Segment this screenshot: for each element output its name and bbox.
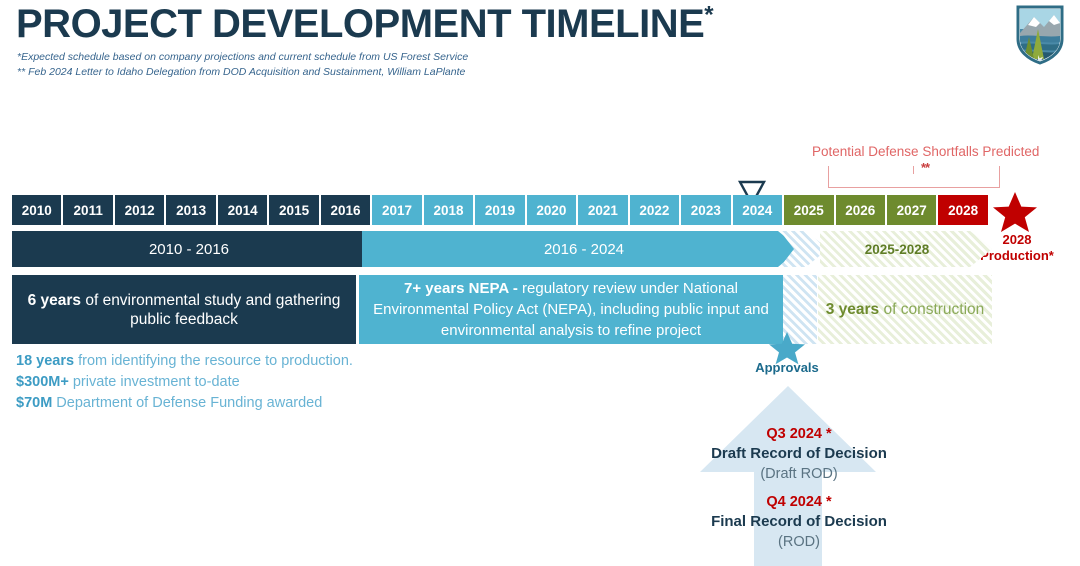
- footnotes: *Expected schedule based on company proj…: [17, 50, 468, 79]
- phase-early-rest: of environmental study and gathering pub…: [81, 292, 340, 328]
- page-title-superscript: *: [704, 2, 713, 29]
- phase-description-early: 6 years of environmental study and gathe…: [12, 275, 356, 344]
- stat-lead: $70M: [16, 395, 52, 411]
- year-cell-2015: 2015: [269, 195, 318, 225]
- year-cell-2026: 2026: [836, 195, 885, 225]
- year-cell-2010: 2010: [12, 195, 61, 225]
- footnote-2: ** Feb 2024 Letter to Idaho Delegation f…: [17, 65, 468, 80]
- draft-rod-title: Draft Record of Decision: [634, 444, 964, 464]
- shortfall-footnote-marker: **: [921, 160, 929, 175]
- timeline-arrow-bands: 2010 - 2016 2016 - 2024 2025-2028: [12, 231, 988, 267]
- final-rod-subtitle: (ROD): [634, 532, 964, 552]
- year-cell-2025: 2025: [784, 195, 833, 225]
- draft-rod-subtitle: (Draft ROD): [634, 464, 964, 484]
- stat-line: $300M+ private investment to-date: [16, 372, 353, 393]
- phase-description-late: 3 years of construction: [818, 275, 992, 344]
- phase-mid-lead: 7+ years NEPA -: [404, 280, 522, 297]
- year-cell-2020: 2020: [527, 195, 576, 225]
- phase-description-row: 6 years of environmental study and gathe…: [12, 275, 988, 344]
- stat-line: 18 years from identifying the resource t…: [16, 351, 353, 372]
- final-rod-title: Final Record of Decision: [634, 512, 964, 532]
- year-cell-2016: 2016: [321, 195, 370, 225]
- milestone-callout-final-rod: Q4 2024 * Final Record of Decision (ROD): [634, 492, 964, 552]
- phase-early-lead: 6 years: [28, 292, 81, 309]
- year-cell-2017: 2017: [372, 195, 421, 225]
- summary-stats: 18 years from identifying the resource t…: [16, 351, 353, 414]
- stat-rest: from identifying the resource to product…: [74, 353, 353, 369]
- draft-rod-quarter: Q3 2024 *: [634, 424, 964, 444]
- year-cell-2024: 2024: [733, 195, 782, 225]
- red-star-icon: [993, 191, 1037, 233]
- year-cell-2027: 2027: [887, 195, 936, 225]
- page-title-text: PROJECT DEVELOPMENT TIMELINE: [16, 2, 704, 46]
- year-cell-2012: 2012: [115, 195, 164, 225]
- stat-lead: $300M+: [16, 374, 69, 390]
- mountain-shield-logo: [1014, 3, 1066, 65]
- shortfall-bracket-tick: [913, 166, 914, 174]
- phase-late-lead: 3 years: [826, 301, 879, 318]
- approvals-label: Approvals: [730, 360, 844, 375]
- footnote-1: *Expected schedule based on company proj…: [17, 50, 468, 65]
- year-cell-2019: 2019: [475, 195, 524, 225]
- timeline-year-strip: 2010201120122013201420152016201720182019…: [12, 195, 988, 225]
- year-cell-2018: 2018: [424, 195, 473, 225]
- band-early-phase: 2010 - 2016: [12, 231, 384, 267]
- stat-rest: private investment to-date: [69, 374, 240, 390]
- band-mid-phase: 2016 - 2024: [362, 231, 800, 267]
- stat-lead: 18 years: [16, 353, 74, 369]
- stat-rest: Department of Defense Funding awarded: [52, 395, 322, 411]
- stat-line: $70M Department of Defense Funding award…: [16, 393, 353, 414]
- year-cell-2021: 2021: [578, 195, 627, 225]
- phase-description-mid: 7+ years NEPA - regulatory review under …: [359, 275, 783, 344]
- year-cell-2013: 2013: [166, 195, 215, 225]
- phase-late-rest: of construction: [879, 301, 984, 318]
- page-title: PROJECT DEVELOPMENT TIMELINE*: [16, 2, 713, 46]
- year-cell-2011: 2011: [63, 195, 112, 225]
- milestone-callout-draft-rod: Q3 2024 * Draft Record of Decision (Draf…: [634, 424, 964, 484]
- final-rod-quarter: Q4 2024 *: [634, 492, 964, 512]
- shortfall-annotation-label: Potential Defense Shortfalls Predicted: [812, 144, 1039, 159]
- year-cell-2028: 2028: [938, 195, 987, 225]
- band-late-phase: 2025-2028: [820, 231, 992, 267]
- year-cell-2014: 2014: [218, 195, 267, 225]
- year-cell-2022: 2022: [630, 195, 679, 225]
- year-cell-2023: 2023: [681, 195, 730, 225]
